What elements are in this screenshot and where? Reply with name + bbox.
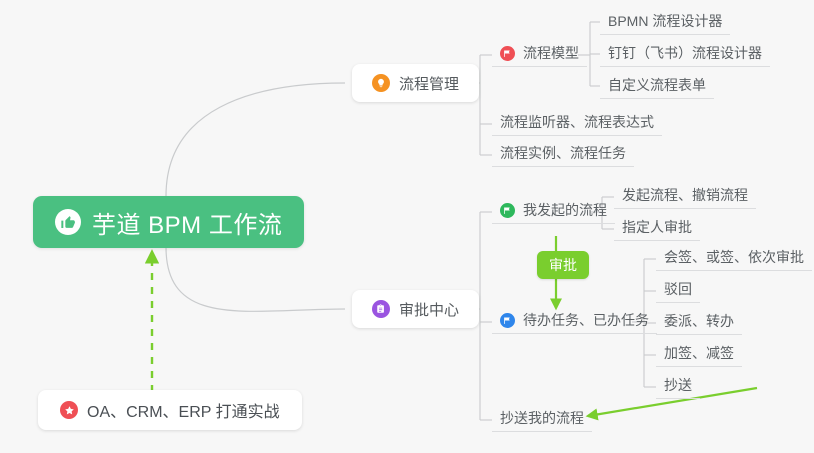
- leaf-label-my-initiated-process: 我发起的流程: [523, 200, 607, 220]
- leaf-label-delegate-transfer: 委派、转办: [664, 311, 734, 331]
- thumbs-up-icon: [55, 209, 81, 235]
- leaf-label-multi-sign-approval: 会签、或签、依次审批: [664, 247, 804, 267]
- branch-node-process-management[interactable]: 流程管理: [352, 64, 479, 102]
- branch-node-approval-center[interactable]: 审批中心: [352, 290, 479, 328]
- floating-topic-label: OA、CRM、ERP 打通实战: [87, 398, 280, 422]
- summary-box-label: 审批: [549, 255, 577, 275]
- leaf-label-cc-to-me-process: 抄送我的流程: [500, 408, 584, 428]
- leaf-label-custom-process-form: 自定义流程表单: [608, 75, 706, 95]
- root-node-label: 芋道 BPM 工作流: [92, 205, 282, 240]
- leaf-node-my-initiated-process[interactable]: 我发起的流程: [492, 197, 615, 224]
- star-icon: [60, 401, 78, 419]
- leaf-node-delegate-transfer[interactable]: 委派、转办: [656, 308, 742, 335]
- flag-red-icon: [500, 46, 515, 61]
- floating-topic-node[interactable]: OA、CRM、ERP 打通实战: [38, 390, 302, 430]
- leaf-label-cc: 抄送: [664, 375, 692, 395]
- leaf-label-reject: 驳回: [664, 279, 692, 299]
- leaf-node-start-cancel-process[interactable]: 发起流程、撤销流程: [614, 182, 756, 209]
- mindmap-canvas: 芋道 BPM 工作流 OA、CRM、ERP 打通实战 流程管理: [0, 0, 814, 453]
- leaf-label-bpmn-designer: BPMN 流程设计器: [608, 11, 722, 31]
- leaf-node-assignee-approval[interactable]: 指定人审批: [614, 214, 700, 241]
- lightbulb-icon: [372, 74, 390, 92]
- edge-root-to-approval-center: [166, 247, 345, 311]
- leaf-node-process-model[interactable]: 流程模型: [492, 40, 587, 67]
- leaf-label-assignee-approval: 指定人审批: [622, 217, 692, 237]
- leaf-label-start-cancel-process: 发起流程、撤销流程: [622, 185, 748, 205]
- leaf-node-todo-done-tasks[interactable]: 待办任务、已办任务: [492, 307, 657, 334]
- leaf-label-dingtalk-feishu-designer: 钉钉（飞书）流程设计器: [608, 43, 762, 63]
- edge-root-to-process-management: [166, 83, 345, 196]
- leaf-label-process-listener-expression: 流程监听器、流程表达式: [500, 112, 654, 132]
- flag-blue-icon: [500, 313, 515, 328]
- root-node[interactable]: 芋道 BPM 工作流: [33, 196, 304, 248]
- clipboard-icon: [372, 300, 390, 318]
- leaf-node-cc[interactable]: 抄送: [656, 372, 700, 399]
- flag-green-icon: [500, 203, 515, 218]
- leaf-node-reject[interactable]: 驳回: [656, 276, 700, 303]
- leaf-label-process-instance-task: 流程实例、流程任务: [500, 143, 626, 163]
- branch-label-process-management: 流程管理: [399, 73, 459, 94]
- branch-label-approval-center: 审批中心: [399, 299, 459, 320]
- leaf-node-dingtalk-feishu-designer[interactable]: 钉钉（飞书）流程设计器: [600, 40, 770, 67]
- leaf-node-cc-to-me-process[interactable]: 抄送我的流程: [492, 405, 592, 432]
- leaf-node-bpmn-designer[interactable]: BPMN 流程设计器: [600, 8, 730, 35]
- leaf-node-custom-process-form[interactable]: 自定义流程表单: [600, 72, 714, 99]
- leaf-label-todo-done-tasks: 待办任务、已办任务: [523, 310, 649, 330]
- leaf-node-process-listener-expression[interactable]: 流程监听器、流程表达式: [492, 109, 662, 136]
- leaf-label-process-model: 流程模型: [523, 43, 579, 63]
- leaf-node-process-instance-task[interactable]: 流程实例、流程任务: [492, 140, 634, 167]
- summary-box-approval[interactable]: 审批: [537, 251, 589, 279]
- leaf-label-add-remove-sign: 加签、减签: [664, 343, 734, 363]
- leaf-node-add-remove-sign[interactable]: 加签、减签: [656, 340, 742, 367]
- leaf-node-multi-sign-approval[interactable]: 会签、或签、依次审批: [656, 244, 812, 271]
